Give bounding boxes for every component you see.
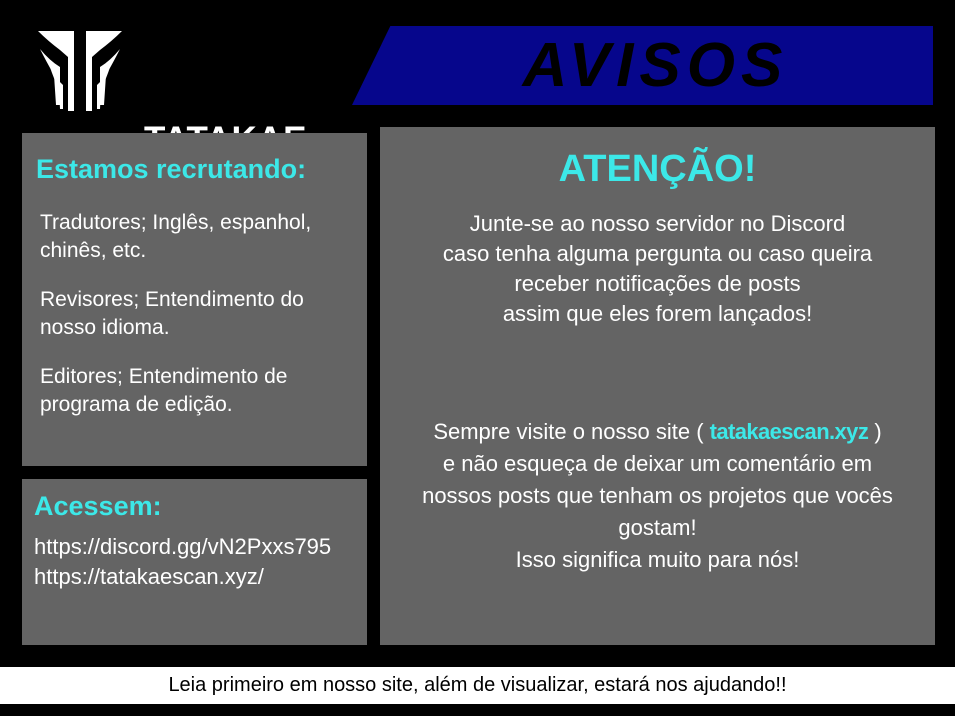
recruiting-panel: Estamos recrutando: Tradutores; Inglês, … xyxy=(22,133,367,466)
avisos-banner: AVISOS xyxy=(352,26,933,105)
list-item: Tradutores; Inglês, espanhol, chinês, et… xyxy=(36,209,362,265)
site-notice-line-with-link: Sempre visite o nosso site ( tatakaescan… xyxy=(380,416,935,448)
notice-panel: ATENÇÃO! Junte-se ao nosso servidor no D… xyxy=(380,127,935,645)
list-item: Revisores; Entendimento do nosso idioma. xyxy=(36,286,362,342)
discord-notice-line: receber notificações de posts xyxy=(380,269,935,299)
site-notice-line: e não esqueça de deixar um comentário em xyxy=(380,448,935,480)
site-notice-text: Sempre visite o nosso site ( tatakaescan… xyxy=(380,416,935,576)
website-link[interactable]: https://tatakaescan.xyz/ xyxy=(34,562,364,592)
recruiting-role-list: Tradutores; Inglês, espanhol, chinês, et… xyxy=(36,209,362,419)
access-panel-heading: Acessem: xyxy=(34,490,162,522)
access-link-list: https://discord.gg/vN2Pxxs795 https://ta… xyxy=(34,532,364,592)
discord-invite-link[interactable]: https://discord.gg/vN2Pxxs795 xyxy=(34,532,364,562)
notice-panel-title: ATENÇÃO! xyxy=(380,147,935,191)
recruiting-panel-heading: Estamos recrutando: xyxy=(36,153,306,185)
avisos-banner-label: AVISOS xyxy=(352,26,933,105)
discord-notice-text: Junte-se ao nosso servidor no Discord ca… xyxy=(380,209,935,329)
site-notice-line: Isso significa muito para nós! xyxy=(380,544,935,576)
footer-message: Leia primeiro em nosso site, além de vis… xyxy=(168,674,786,697)
tatakae-shield-emblem-icon xyxy=(30,27,130,113)
list-item: Editores; Entendimento de programa de ed… xyxy=(36,363,362,419)
announcement-page: TATAKAE SCAN AVISOS Estamos recrutando: … xyxy=(0,0,955,716)
site-notice-line: nossos posts que tenham os projetos que … xyxy=(380,480,935,544)
site-line-prefix: Sempre visite o nosso site ( xyxy=(433,419,709,444)
discord-notice-line: assim que eles forem lançados! xyxy=(380,299,935,329)
site-inline-link[interactable]: tatakaescan.xyz xyxy=(710,419,869,444)
footer-bar: Leia primeiro em nosso site, além de vis… xyxy=(0,667,955,704)
discord-notice-line: Junte-se ao nosso servidor no Discord xyxy=(380,209,935,239)
page-header: TATAKAE SCAN AVISOS xyxy=(0,0,955,120)
discord-notice-line: caso tenha alguma pergunta ou caso queir… xyxy=(380,239,935,269)
site-line-suffix: ) xyxy=(868,419,881,444)
access-links-panel: Acessem: https://discord.gg/vN2Pxxs795 h… xyxy=(22,479,367,645)
